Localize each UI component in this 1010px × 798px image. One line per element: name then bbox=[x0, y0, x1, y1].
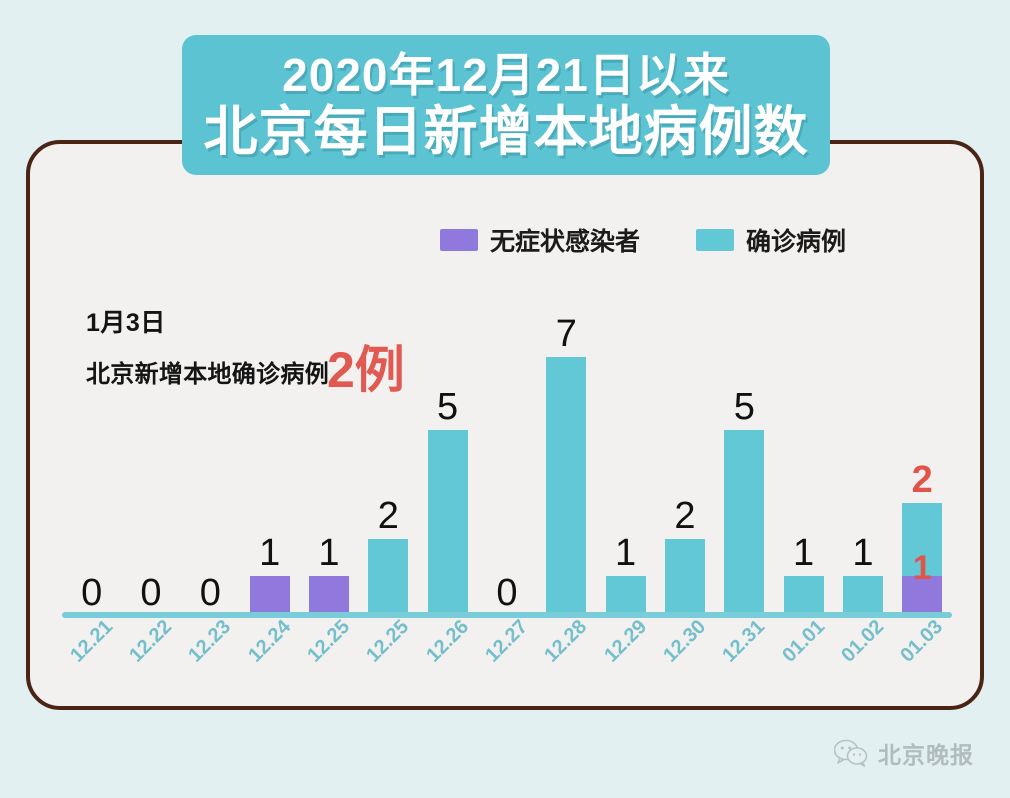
bar-value-label: 1 bbox=[615, 534, 636, 572]
x-label-column: 01.02 bbox=[833, 622, 892, 692]
x-axis-tick-label: 12.27 bbox=[481, 616, 533, 668]
wechat-icon bbox=[834, 739, 868, 767]
x-axis-tick-label: 12.24 bbox=[244, 616, 296, 668]
x-axis-line bbox=[62, 612, 952, 618]
annotation-date: 1月3日 bbox=[86, 303, 405, 339]
x-label-column: 12.26 bbox=[418, 622, 477, 692]
x-label-column: 12.25 bbox=[359, 622, 418, 692]
bar-segment-confirmed bbox=[665, 539, 705, 612]
bar-stack bbox=[546, 357, 586, 613]
bar-value-label: 2 bbox=[378, 497, 399, 535]
bar-value-label: 0 bbox=[81, 574, 102, 612]
bar-stack: 1 bbox=[902, 503, 942, 613]
bar-value-label: 1 bbox=[259, 534, 280, 572]
bar-column: 1 bbox=[596, 312, 655, 612]
bar-column: 5 bbox=[715, 312, 774, 612]
x-axis-tick-label: 12.22 bbox=[125, 616, 177, 668]
bar-value-label: 2 bbox=[674, 497, 695, 535]
bar-stack bbox=[368, 539, 408, 612]
bar-stack bbox=[843, 576, 883, 613]
annotation-line-2: 北京新增本地确诊病例 2例 bbox=[86, 345, 405, 389]
bar-stack bbox=[665, 539, 705, 612]
bar-value-label: 0 bbox=[496, 574, 517, 612]
bar-value-label: 7 bbox=[556, 315, 577, 353]
x-label-column: 12.29 bbox=[596, 622, 655, 692]
bar-value-label: 1 bbox=[318, 534, 339, 572]
x-axis-tick-label: 12.26 bbox=[422, 616, 474, 668]
x-axis-tick-label: 01.01 bbox=[778, 616, 830, 668]
title-banner: 2020年12月21日以来 北京每日新增本地病例数 bbox=[182, 35, 830, 175]
x-label-column: 12.31 bbox=[715, 622, 774, 692]
bar-segment-confirmed bbox=[368, 539, 408, 612]
bar-column: 0 bbox=[477, 312, 536, 612]
x-axis-tick-label: 12.25 bbox=[362, 616, 414, 668]
bar-value-label: 2 bbox=[912, 461, 933, 499]
bar-inner-label: 1 bbox=[913, 551, 932, 585]
bar-stack bbox=[250, 576, 290, 613]
bar-column: 2 bbox=[655, 312, 714, 612]
bar-stack bbox=[784, 576, 824, 613]
x-label-column: 12.24 bbox=[240, 622, 299, 692]
x-axis-tick-label: 01.02 bbox=[837, 616, 889, 668]
bar-stack bbox=[309, 576, 349, 613]
x-label-column: 01.01 bbox=[774, 622, 833, 692]
x-axis-labels: 12.2112.2212.2312.2412.2512.2512.2612.27… bbox=[62, 622, 952, 692]
bar-segment-asymptomatic: 1 bbox=[902, 576, 942, 613]
chart-legend: 无症状感染者确诊病例 bbox=[440, 222, 846, 258]
watermark: 北京晚报 bbox=[834, 736, 974, 770]
x-label-column: 12.21 bbox=[62, 622, 121, 692]
title-line-2: 北京每日新增本地病例数 bbox=[204, 102, 809, 162]
bar-segment-confirmed bbox=[784, 576, 824, 613]
legend-label-asymptomatic: 无症状感染者 bbox=[490, 222, 640, 258]
x-label-column: 12.27 bbox=[477, 622, 536, 692]
legend-label-confirmed: 确诊病例 bbox=[746, 222, 846, 258]
x-label-column: 12.25 bbox=[299, 622, 358, 692]
bar-stack bbox=[428, 430, 468, 613]
annotation-text: 北京新增本地确诊病例 bbox=[86, 354, 329, 389]
bar-column: 7 bbox=[537, 312, 596, 612]
bar-segment-confirmed bbox=[428, 430, 468, 613]
bar-segment-confirmed bbox=[843, 576, 883, 613]
x-axis-tick-label: 12.31 bbox=[718, 616, 770, 668]
bar-value-label: 0 bbox=[200, 574, 221, 612]
x-label-column: 12.22 bbox=[121, 622, 180, 692]
x-axis-tick-label: 12.21 bbox=[66, 616, 118, 668]
bar-column: 1 bbox=[833, 312, 892, 612]
bar-segment-confirmed bbox=[724, 430, 764, 613]
watermark-text: 北京晚报 bbox=[878, 736, 974, 770]
legend-item-confirmed: 确诊病例 bbox=[696, 222, 846, 258]
bar-column: 1 bbox=[774, 312, 833, 612]
bar-segment-confirmed bbox=[546, 357, 586, 613]
bar-column: 12 bbox=[893, 312, 952, 612]
x-axis-tick-label: 12.29 bbox=[600, 616, 652, 668]
bar-value-label: 1 bbox=[852, 534, 873, 572]
x-label-column: 12.30 bbox=[655, 622, 714, 692]
bar-value-label: 5 bbox=[437, 388, 458, 426]
bar-segment-confirmed bbox=[606, 576, 646, 613]
x-axis-tick-label: 01.03 bbox=[896, 616, 948, 668]
legend-swatch-confirmed bbox=[696, 229, 734, 251]
legend-swatch-asymptomatic bbox=[440, 229, 478, 251]
annotation-block: 1月3日 北京新增本地确诊病例 2例 bbox=[86, 303, 405, 389]
x-label-column: 01.03 bbox=[893, 622, 952, 692]
x-axis-tick-label: 12.23 bbox=[184, 616, 236, 668]
legend-item-asymptomatic: 无症状感染者 bbox=[440, 222, 640, 258]
bar-stack bbox=[606, 576, 646, 613]
title-line-1: 2020年12月21日以来 bbox=[282, 50, 730, 102]
x-axis-tick-label: 12.25 bbox=[303, 616, 355, 668]
bar-segment-asymptomatic bbox=[309, 576, 349, 613]
annotation-highlight: 2例 bbox=[327, 350, 405, 390]
bar-value-label: 1 bbox=[793, 534, 814, 572]
bar-value-label: 5 bbox=[734, 388, 755, 426]
bar-value-label: 0 bbox=[140, 574, 161, 612]
bar-stack bbox=[724, 430, 764, 613]
x-label-column: 12.28 bbox=[537, 622, 596, 692]
x-axis-tick-label: 12.30 bbox=[659, 616, 711, 668]
bar-segment-asymptomatic bbox=[250, 576, 290, 613]
x-axis-tick-label: 12.28 bbox=[540, 616, 592, 668]
bar-column: 5 bbox=[418, 312, 477, 612]
x-label-column: 12.23 bbox=[181, 622, 240, 692]
